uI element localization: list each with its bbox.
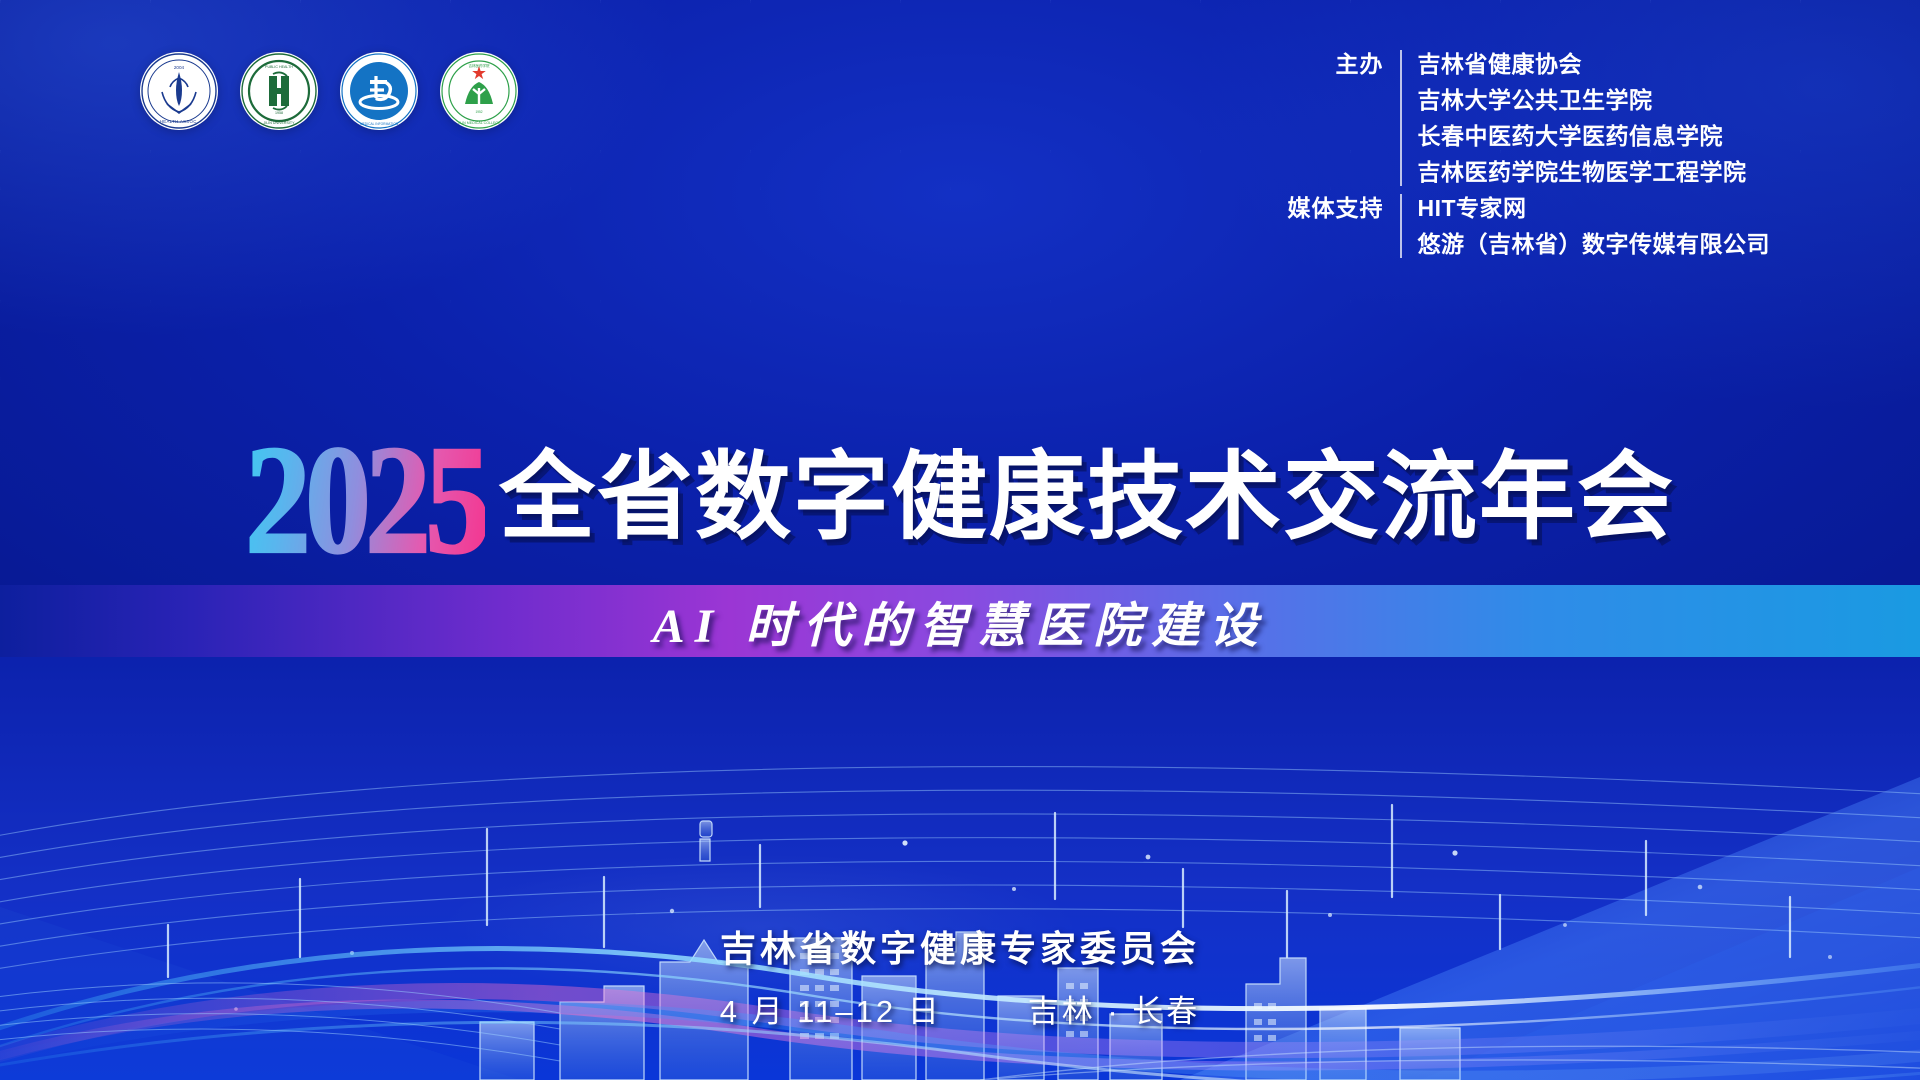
conference-poster: 2004 HEALTH ASSOC. PUBLIC HEALTH 1958 JI… [0,0,1920,1080]
svg-text:JILIN UNIVERSITY: JILIN UNIVERSITY [264,121,296,125]
organizer-group-host: 主办 吉林省健康协会 吉林大学公共卫生学院 长春中医药大学医药信息学院 吉林医药… [1262,46,1771,190]
organizer-divider [1400,194,1402,258]
changchun-medical-information-logo: 医药信息学院 MEDICAL INFORMATION [340,52,418,130]
jilin-medical-college-logo: 吉林医药学院 1952 JILIN MEDICAL COLLEGE [440,52,518,130]
organizer-name: 吉林省健康协会 [1418,46,1747,82]
organizer-divider [1400,50,1402,186]
committee-name: 吉林省数字健康专家委员会 [720,920,1200,972]
svg-text:2004: 2004 [174,65,185,70]
svg-text:医药信息学院: 医药信息学院 [369,63,390,68]
page-title: 全省数字健康技术交流年会 [499,450,1675,546]
svg-text:1958: 1958 [275,111,283,115]
organizer-name-list-media: HIT专家网 悠游（吉林省）数字传媒有限公司 [1418,190,1771,262]
organizers-block: 主办 吉林省健康协会 吉林大学公共卫生学院 长春中医药大学医药信息学院 吉林医药… [1262,46,1771,262]
svg-text:HEALTH ASSOC.: HEALTH ASSOC. [160,119,198,124]
svg-text:1952: 1952 [475,110,482,114]
organizer-label-media: 媒体支持 [1262,190,1384,226]
organizer-group-media: 媒体支持 HIT专家网 悠游（吉林省）数字传媒有限公司 [1262,190,1771,262]
jilin-university-public-health-logo: PUBLIC HEALTH 1958 JILIN UNIVERSITY [240,52,318,130]
footer-meta-row: 4 月 11–12 日 吉林 · 长春 [720,986,1201,1031]
organizer-name: 吉林医药学院生物医学工程学院 [1418,154,1747,190]
svg-text:MEDICAL INFORMATION: MEDICAL INFORMATION [360,122,399,126]
organizer-logo-row: 2004 HEALTH ASSOC. PUBLIC HEALTH 1958 JI… [140,52,518,130]
organizer-name: 长春中医药大学医药信息学院 [1418,118,1747,154]
event-location: 吉林 · 长春 [1028,986,1201,1031]
organizer-name: HIT专家网 [1418,190,1771,226]
organizer-label-host: 主办 [1262,46,1384,82]
jilin-health-association-logo: 2004 HEALTH ASSOC. [140,52,218,130]
svg-text:PUBLIC HEALTH: PUBLIC HEALTH [265,65,293,69]
organizer-name: 吉林大学公共卫生学院 [1418,82,1747,118]
svg-text:吉林医药学院: 吉林医药学院 [469,63,490,68]
organizer-name: 悠游（吉林省）数字传媒有限公司 [1418,226,1771,262]
year-2025: 2025 [245,422,485,578]
organizer-name-list-host: 吉林省健康协会 吉林大学公共卫生学院 长春中医药大学医药信息学院 吉林医药学院生… [1418,46,1747,190]
svg-text:JILIN MEDICAL COLLEGE: JILIN MEDICAL COLLEGE [457,121,501,125]
title-row: 2025 全省数字健康技术交流年会 [0,432,1920,564]
event-date: 4 月 11–12 日 [720,986,942,1031]
subtitle-band: AI 时代的智慧医院建设 [0,585,1920,657]
subtitle: AI 时代的智慧医院建设 [653,586,1268,656]
footer-text-block: 吉林省数字健康专家委员会 4 月 11–12 日 吉林 · 长春 [0,920,1920,1031]
